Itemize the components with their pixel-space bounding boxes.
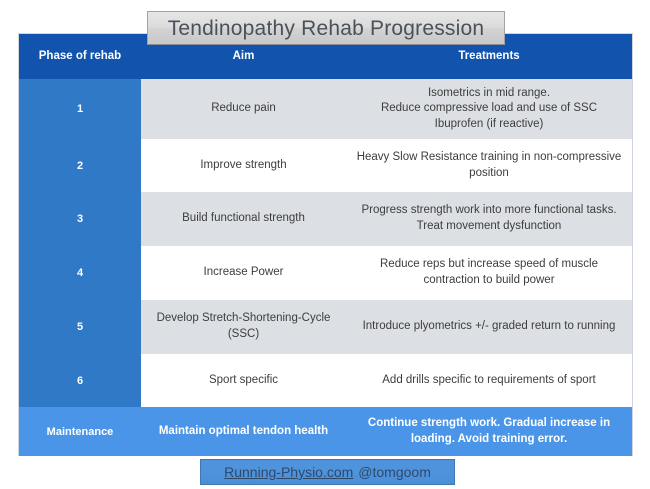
cell-phase: 5	[19, 300, 141, 354]
table-row: 2 Improve strength Heavy Slow Resistance…	[19, 139, 632, 192]
cell-aim: Increase Power	[141, 246, 346, 300]
table-row: 5 Develop Stretch-Shortening-Cycle (SSC)…	[19, 300, 632, 354]
cell-phase: 6	[19, 354, 141, 407]
table-row: 3 Build functional strength Progress str…	[19, 192, 632, 246]
cell-aim: Reduce pain	[141, 79, 346, 139]
cell-treatments: Reduce reps but increase speed of muscle…	[346, 246, 632, 300]
slide-canvas: Tendinopathy Rehab Progression Phase of …	[0, 0, 650, 489]
cell-treatments: Add drills specific to requirements of s…	[346, 354, 632, 407]
cell-phase: 1	[19, 79, 141, 139]
table-row: 1 Reduce pain Isometrics in mid range. R…	[19, 79, 632, 139]
column-header-treatments: Treatments	[346, 51, 632, 63]
table-row: 4 Increase Power Reduce reps but increas…	[19, 246, 632, 300]
cell-aim: Improve strength	[141, 139, 346, 192]
column-header-aim: Aim	[141, 51, 346, 63]
rehab-progression-table: Phase of rehab Aim Treatments 1 Reduce p…	[18, 33, 633, 456]
table-row: 6 Sport specific Add drills specific to …	[19, 354, 632, 407]
cell-treatments: Continue strength work. Gradual increase…	[346, 407, 632, 456]
cell-phase: 2	[19, 139, 141, 192]
footer-attribution-plaque: Running-Physio.com @tomgoom	[200, 459, 455, 485]
cell-treatments: Introduce plyometrics +/- graded return …	[346, 300, 632, 354]
cell-aim: Maintain optimal tendon health	[141, 407, 346, 456]
cell-treatments: Heavy Slow Resistance training in non-co…	[346, 139, 632, 192]
website-link[interactable]: Running-Physio.com	[224, 465, 353, 479]
cell-aim: Sport specific	[141, 354, 346, 407]
cell-treatments: Progress strength work into more functio…	[346, 192, 632, 246]
column-header-phase: Phase of rehab	[19, 51, 141, 63]
table-row-maintenance: Maintenance Maintain optimal tendon heal…	[19, 407, 632, 456]
cell-treatments: Isometrics in mid range. Reduce compress…	[346, 79, 632, 139]
cell-aim: Develop Stretch-Shortening-Cycle (SSC)	[141, 300, 346, 354]
table-body: 1 Reduce pain Isometrics in mid range. R…	[19, 79, 632, 455]
page-title: Tendinopathy Rehab Progression	[168, 18, 485, 39]
slide-title-plaque: Tendinopathy Rehab Progression	[147, 11, 505, 45]
cell-phase: 4	[19, 246, 141, 300]
twitter-handle[interactable]: @tomgoom	[358, 465, 431, 479]
cell-phase: 3	[19, 192, 141, 246]
cell-aim: Build functional strength	[141, 192, 346, 246]
cell-phase: Maintenance	[19, 407, 141, 456]
